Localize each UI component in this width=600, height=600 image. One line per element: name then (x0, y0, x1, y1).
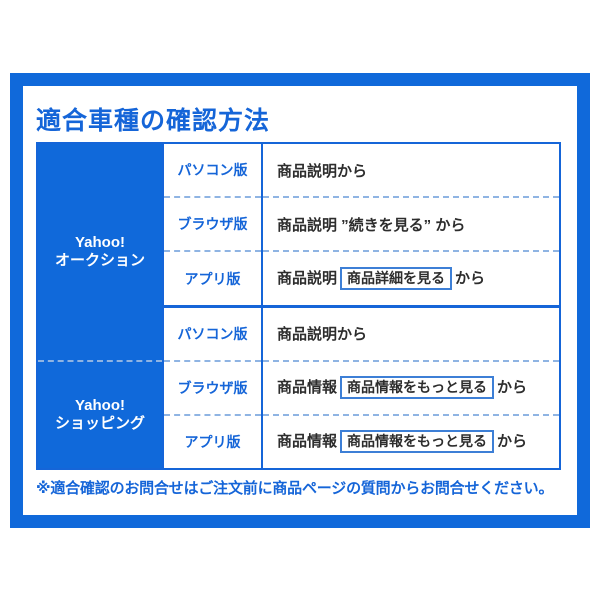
howto-prefix: 商品説明から (277, 163, 367, 180)
brand-cell-shopping: Yahoo! ショッピング (37, 361, 163, 469)
brand-service: ショッピング (38, 415, 162, 433)
howto-cell: 商品説明から (262, 143, 560, 197)
howto-cell: 商品説明商品詳細を見るから (262, 251, 560, 305)
howto-suffix: から (497, 379, 527, 396)
ui-button-chip[interactable]: 商品情報をもっと見る (340, 376, 494, 400)
version-label-app: アプリ版 (163, 251, 262, 305)
infographic-canvas: 適合車種の確認方法 Yahoo! オークション パソコン版 商品説明から ブラウ… (0, 0, 600, 600)
footnote-text: ※適合確認のお問合せはご注文前に商品ページの質問からお問合せください。 (36, 477, 553, 498)
version-label-app: アプリ版 (163, 415, 262, 469)
brand-name: Yahoo! (38, 397, 162, 415)
brand-service: オークション (38, 252, 162, 270)
version-label-browser: ブラウザ版 (163, 361, 262, 415)
version-label-pc: パソコン版 (163, 307, 262, 361)
table-row: Yahoo! オークション パソコン版 商品説明から (37, 143, 560, 197)
version-label-pc: パソコン版 (163, 143, 262, 197)
brand-name: Yahoo! (38, 234, 162, 252)
howto-cell: 商品説明 ”続きを見る” から (262, 197, 560, 251)
page-title: 適合車種の確認方法 (36, 101, 270, 137)
compatibility-check-table: Yahoo! オークション パソコン版 商品説明から ブラウザ版 商品説明 ”続… (36, 142, 561, 470)
howto-prefix: 商品説明 (277, 270, 337, 287)
ui-button-chip[interactable]: 商品詳細を見る (340, 267, 452, 291)
howto-suffix: から (455, 270, 485, 287)
version-label-browser: ブラウザ版 (163, 197, 262, 251)
table-row: Yahoo! ショッピング ブラウザ版 商品情報商品情報をもっと見るから (37, 361, 560, 415)
howto-prefix: 商品情報 (277, 379, 337, 396)
howto-prefix: 商品情報 (277, 433, 337, 450)
howto-prefix: 商品説明 ”続きを見る” から (277, 217, 465, 234)
ui-button-chip[interactable]: 商品情報をもっと見る (340, 430, 494, 454)
brand-cell-auction: Yahoo! オークション (37, 143, 163, 361)
howto-cell: 商品説明から (262, 307, 560, 361)
howto-cell: 商品情報商品情報をもっと見るから (262, 361, 560, 415)
howto-suffix: から (497, 433, 527, 450)
howto-cell: 商品情報商品情報をもっと見るから (262, 415, 560, 469)
howto-prefix: 商品説明から (277, 326, 367, 343)
